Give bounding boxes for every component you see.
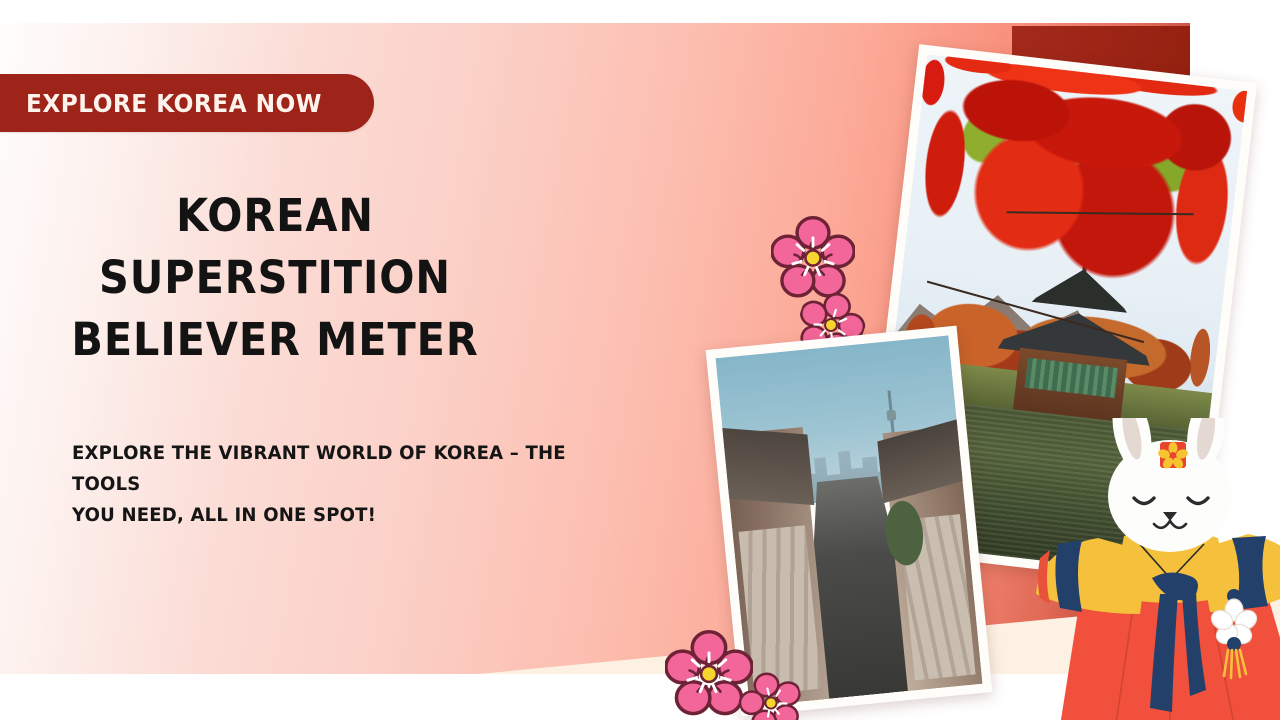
- rabbit-head: [1106, 418, 1232, 552]
- page-title-line-1: KOREAN: [59, 185, 491, 247]
- hanbok-rabbit-mascot: [1020, 418, 1280, 720]
- left-sleeve-stripes: [1038, 540, 1082, 612]
- street-tree: [874, 485, 934, 581]
- explore-korea-now-badge[interactable]: EXPLORE KOREA NOW: [0, 74, 374, 132]
- background-top-margin: [0, 0, 1280, 23]
- page-subtitle-line-2: YOU NEED, ALL IN ONE SPOT!: [72, 500, 604, 531]
- rabbit-hair-ornament: [1157, 442, 1189, 470]
- norigae-bead-bottom: [1227, 637, 1241, 651]
- page-subtitle: EXPLORE THE VIBRANT WORLD OF KOREA – THE…: [72, 438, 632, 531]
- page-title-line-2: SUPERSTITION: [59, 247, 491, 309]
- page-subtitle-line-1: EXPLORE THE VIBRANT WORLD OF KOREA – THE…: [72, 438, 604, 500]
- street-photo-image: [715, 335, 982, 706]
- slide-canvas: EXPLORE KOREA NOW KOREAN SUPERSTITION BE…: [0, 0, 1280, 720]
- page-title-line-3: BELIEVER METER: [59, 309, 491, 371]
- page-title: KOREAN SUPERSTITION BELIEVER METER: [40, 185, 510, 371]
- badge-label: EXPLORE KOREA NOW: [26, 89, 322, 118]
